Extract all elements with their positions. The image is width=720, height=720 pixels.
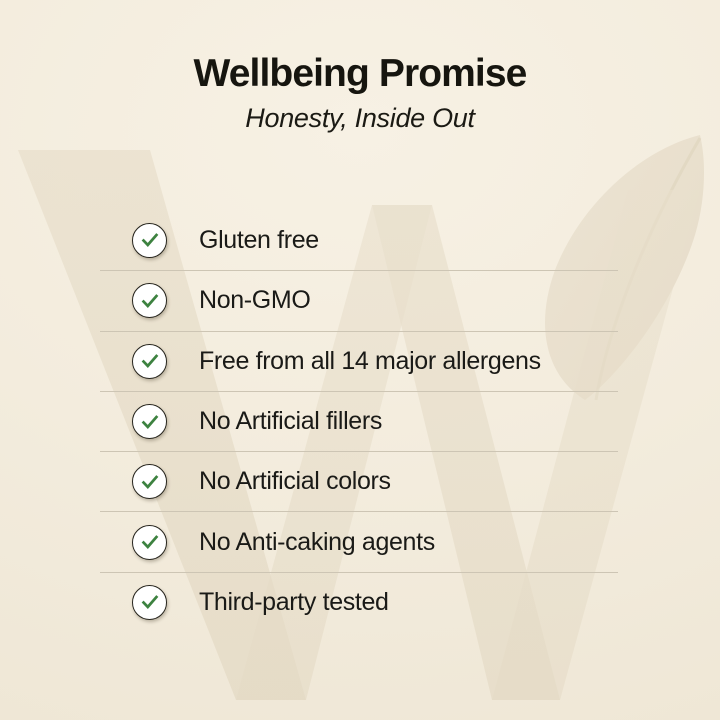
list-item: Third-party tested: [100, 572, 618, 632]
check-circle-icon: [132, 585, 167, 620]
list-item: Gluten free: [100, 210, 618, 270]
list-item: No Artificial fillers: [100, 391, 618, 451]
check-circle-icon: [132, 404, 167, 439]
check-circle-icon: [132, 223, 167, 258]
page-title: Wellbeing Promise: [0, 0, 720, 95]
list-item-label: No Artificial fillers: [199, 407, 382, 436]
list-item-label: No Artificial colors: [199, 467, 391, 496]
check-circle-icon: [132, 464, 167, 499]
list-item: Non-GMO: [100, 270, 618, 330]
promise-list: Gluten free Non-GMO Free from all 14 maj…: [100, 210, 618, 632]
page-subtitle: Honesty, Inside Out: [0, 95, 720, 134]
wellbeing-promise-card: Wellbeing Promise Honesty, Inside Out Gl…: [0, 0, 720, 720]
check-circle-icon: [132, 344, 167, 379]
list-item-label: Non-GMO: [199, 286, 310, 315]
list-item: Free from all 14 major allergens: [100, 331, 618, 391]
check-circle-icon: [132, 283, 167, 318]
list-item-label: Gluten free: [199, 226, 319, 255]
list-item-label: No Anti-caking agents: [199, 528, 435, 557]
check-circle-icon: [132, 525, 167, 560]
list-item-label: Free from all 14 major allergens: [199, 347, 541, 376]
list-item-label: Third-party tested: [199, 588, 389, 617]
list-item: No Anti-caking agents: [100, 511, 618, 571]
header: Wellbeing Promise Honesty, Inside Out: [0, 0, 720, 134]
list-item: No Artificial colors: [100, 451, 618, 511]
